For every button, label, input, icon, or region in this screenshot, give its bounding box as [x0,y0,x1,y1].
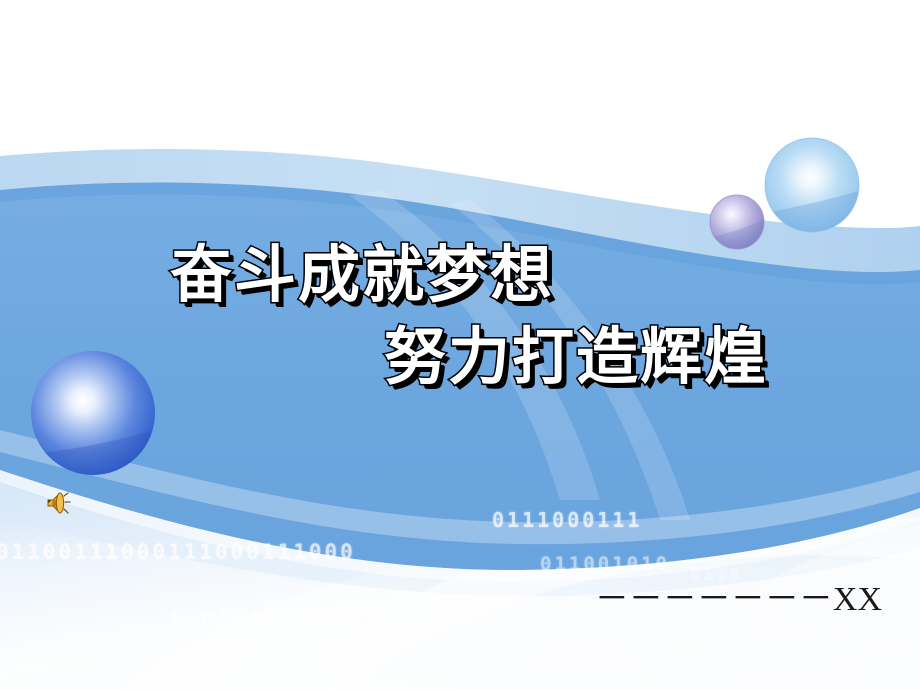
signature-text: －－－－－－－XX [595,580,882,620]
title-line-1: 奋斗成就梦想 [150,234,890,316]
binary-texture-line-1: 01100111000111000111000 [0,540,356,564]
speaker-icon[interactable] [45,489,75,517]
binary-texture-line-4: 011001010 [540,553,670,575]
slide-title: 奋斗成就梦想 努力打造辉煌 [150,234,890,398]
title-line-2: 努力打造辉煌 [150,316,890,398]
presentation-slide: 01100111000111000111000 1 010011100011 0… [0,0,920,690]
binary-texture-line-2: 1 010011100011 [168,608,395,633]
binary-texture-line-3: 0111000111 [492,508,642,532]
